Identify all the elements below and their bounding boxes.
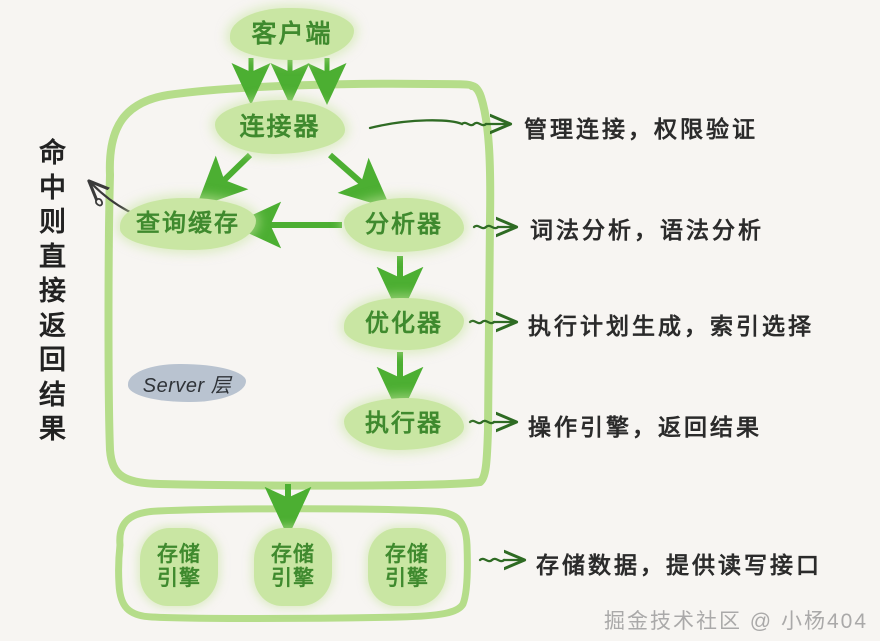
cache-hit-note: 命中 则 直接 返回 结果 (26, 136, 80, 447)
annotation-connector: 管理连接，权限验证 (524, 110, 758, 144)
storage-engine-3-line2: 引擎 (385, 567, 429, 591)
annotation-analyzer: 词法分析，语法分析 (530, 211, 764, 245)
arrow-connector-to-analyzer (330, 155, 372, 192)
node-query-cache[interactable]: 查询缓存 (120, 198, 256, 250)
node-client[interactable]: 客户端 (230, 8, 354, 60)
annotation-storage: 存储数据，提供读写接口 (536, 546, 822, 580)
storage-engine-1-line2: 引擎 (157, 567, 201, 591)
cache-hit-note-line-2: 则 (26, 205, 80, 240)
watermark: 掘金技术社区 @ 小杨404 (604, 605, 868, 635)
node-analyzer[interactable]: 分析器 (344, 198, 464, 252)
node-analyzer-label: 分析器 (365, 211, 443, 239)
cache-hit-note-line-3: 直接 (26, 240, 80, 309)
node-storage-engine-3[interactable]: 存储 引擎 (368, 528, 446, 606)
node-connector[interactable]: 连接器 (215, 100, 345, 154)
node-optimizer-label: 优化器 (365, 310, 443, 338)
arrow-client-to-connector (251, 58, 327, 84)
squiggle-storage-annotation (480, 559, 520, 561)
arrow-connector-to-cache (214, 155, 250, 190)
node-client-label: 客户端 (251, 20, 332, 49)
cache-hit-note-line-5: 结果 (26, 378, 80, 447)
node-executor[interactable]: 执行器 (344, 398, 464, 450)
annotation-optimizer: 执行计划生成，索引选择 (528, 307, 814, 341)
node-storage-engine-1[interactable]: 存储 引擎 (140, 528, 218, 606)
storage-engine-2-line2: 引擎 (271, 567, 315, 591)
node-storage-engine-2[interactable]: 存储 引擎 (254, 528, 332, 606)
diagram-canvas: 客户端 连接器 查询缓存 分析器 优化器 执行器 Server 层 存储 引擎 … (0, 0, 880, 641)
storage-engine-1-line1: 存储 (157, 543, 201, 567)
cache-hit-note-line-1: 命中 (26, 136, 80, 205)
node-optimizer[interactable]: 优化器 (344, 298, 464, 350)
node-query-cache-label: 查询缓存 (136, 210, 240, 238)
server-layer-badge: Server 层 (128, 364, 246, 402)
node-connector-label: 连接器 (239, 113, 320, 142)
storage-engine-3-line1: 存储 (385, 543, 429, 567)
annotation-executor: 操作引擎，返回结果 (528, 408, 762, 442)
server-layer-badge-label: Server 层 (143, 369, 231, 398)
storage-engine-2-line1: 存储 (271, 543, 315, 567)
node-executor-label: 执行器 (365, 410, 443, 438)
cache-hit-note-line-4: 返回 (26, 309, 80, 378)
